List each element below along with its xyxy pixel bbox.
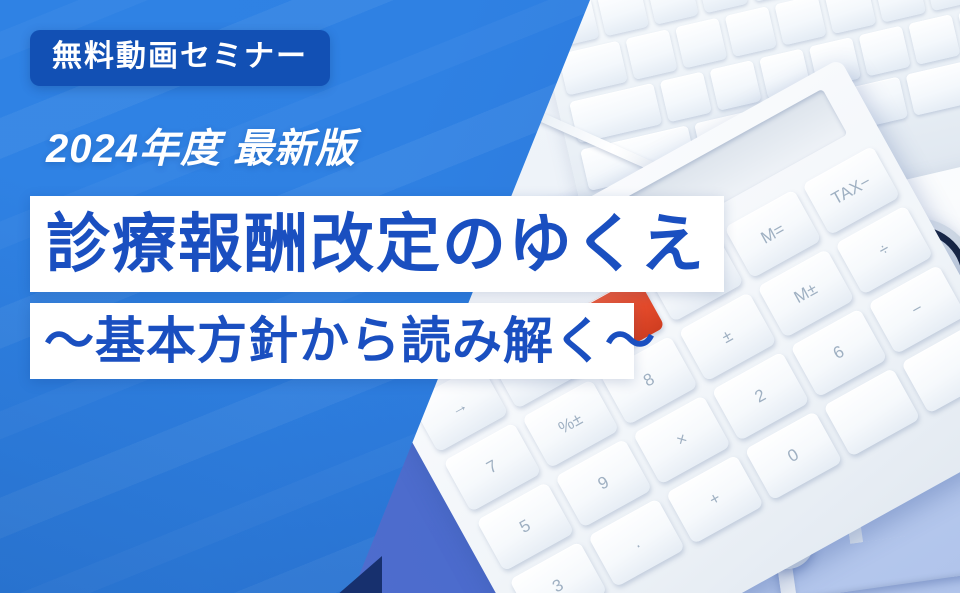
- eyebrow-text: 2024年度 最新版: [46, 129, 356, 169]
- title-box: 診療報酬改定のゆくえ: [30, 196, 724, 292]
- page-title: 診療報酬改定のゆくえ: [30, 212, 706, 276]
- free-seminar-badge: 無料動画セミナー: [30, 30, 330, 86]
- page-subtitle: ～基本方針から読み解く～: [30, 316, 656, 366]
- subtitle-box: ～基本方針から読み解く～: [30, 303, 634, 379]
- seminar-banner: → RM C/C TAX+ M= TAX− 7 %± 8 ± M± ÷ 5 9 …: [0, 0, 960, 593]
